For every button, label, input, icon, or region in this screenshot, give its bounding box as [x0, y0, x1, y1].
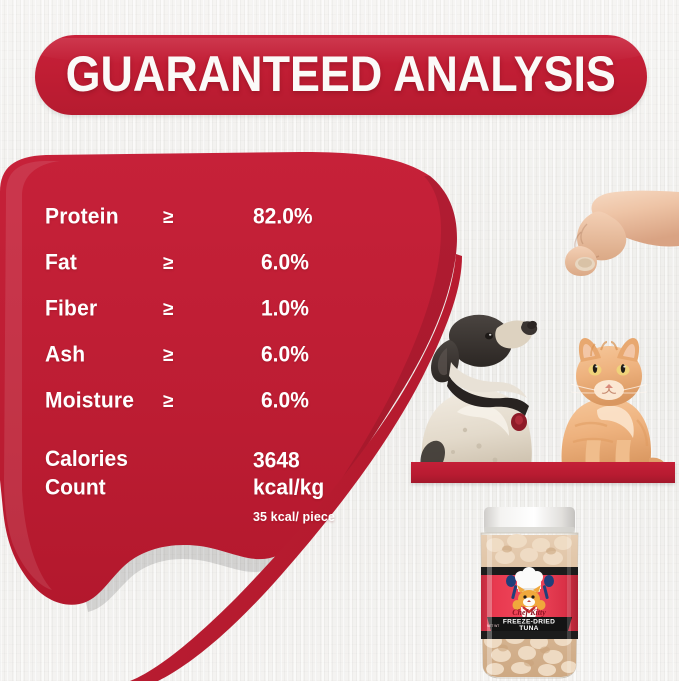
page-title-text: GUARANTEED ANALYSIS — [66, 47, 616, 104]
calories-label-line2: Count — [45, 474, 253, 502]
nutrient-value: 1.0% — [253, 296, 355, 321]
calories-per-piece: 35 kcal/ piece — [253, 510, 355, 524]
nutrient-label: Protein — [45, 204, 163, 229]
nutrient-operator: ≥ — [163, 299, 253, 321]
calories-value: 3648 — [253, 447, 355, 475]
jar-label: Chef Kitty FREEZE-DRIED TUNA NET WT — [481, 567, 578, 639]
nutrient-label: Ash — [45, 342, 163, 367]
nutrient-operator: ≥ — [163, 391, 253, 413]
nutrient-value: 82.0% — [253, 204, 355, 229]
nutrient-operator: ≥ — [163, 207, 253, 229]
calories-unit: kcal/kg — [253, 474, 355, 502]
nutrient-label: Fat — [45, 250, 163, 275]
guaranteed-analysis-table: Protein ≥ 82.0% Fat ≥ 6.0% Fiber ≥ 1.0% … — [45, 205, 355, 435]
cat-icon — [562, 338, 668, 475]
table-row: Protein ≥ 82.0% — [45, 205, 355, 251]
infographic-canvas: GUARANTEED ANALYSIS — [0, 0, 679, 681]
nutrient-operator: ≥ — [163, 345, 253, 367]
calories-row: Calories Count 3648 kcal/kg 35 kcal/ pie… — [45, 448, 355, 524]
nutrient-label: Fiber — [45, 296, 163, 321]
page-title: GUARANTEED ANALYSIS — [35, 35, 647, 115]
jar-brand-script: Chef Kitty — [512, 608, 546, 617]
jar-product-line2: TUNA — [519, 625, 539, 632]
table-row: Ash ≥ 6.0% — [45, 343, 355, 389]
calories-values: 3648 kcal/kg 35 kcal/ piece — [253, 448, 355, 524]
calories-label: Calories Count — [45, 446, 253, 526]
nutrient-label: Moisture — [45, 388, 163, 413]
table-row: Fiber ≥ 1.0% — [45, 297, 355, 343]
dog-icon — [420, 315, 538, 475]
hand-holding-treat-icon — [557, 190, 679, 278]
table-row: Fat ≥ 6.0% — [45, 251, 355, 297]
nutrient-operator: ≥ — [163, 253, 253, 275]
nutrient-value: 6.0% — [253, 250, 355, 275]
red-shelf-bar — [411, 462, 675, 483]
table-row: Moisture ≥ 6.0% — [45, 389, 355, 435]
nutrient-value: 6.0% — [253, 342, 355, 367]
nutrient-value: 6.0% — [253, 388, 355, 413]
pets-photo — [405, 300, 679, 475]
calories-label-line1: Calories — [45, 446, 253, 474]
product-jar: Chef Kitty FREEZE-DRIED TUNA NET WT — [473, 505, 586, 681]
